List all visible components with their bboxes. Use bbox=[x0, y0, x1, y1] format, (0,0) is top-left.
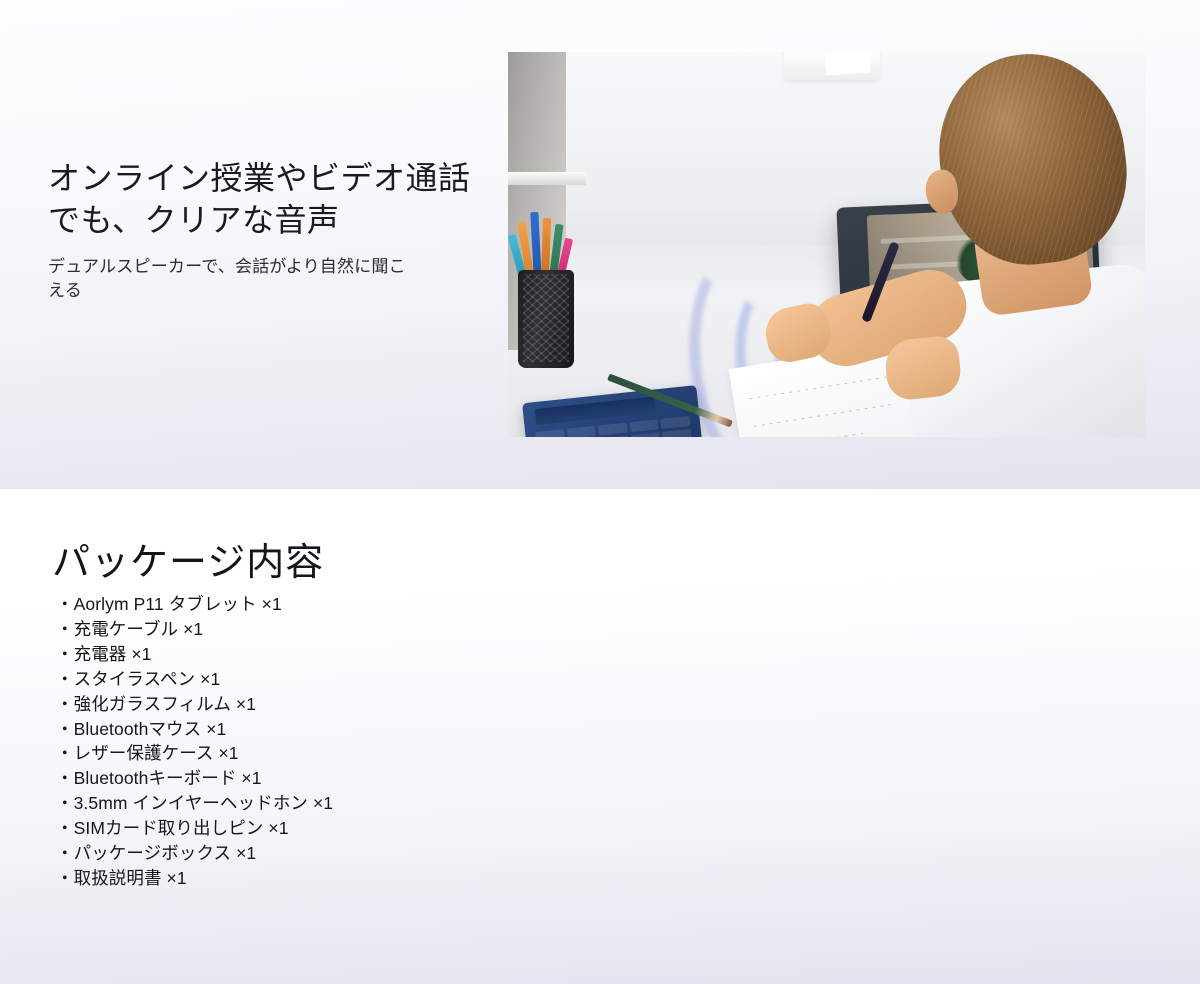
hero-title: オンライン授業やビデオ通話 でも、クリアな音声 bbox=[48, 158, 488, 241]
product-detail-page: オンライン授業やビデオ通話 でも、クリアな音声 デュアルスピーカーで、会話がより… bbox=[0, 0, 1200, 984]
pencil-cup bbox=[518, 270, 574, 368]
hero-photo bbox=[508, 52, 1145, 437]
hero-copy-block: オンライン授業やビデオ通話 でも、クリアな音声 デュアルスピーカーで、会話がより… bbox=[48, 158, 488, 303]
package-contents-section: パッケージ内容 ・Aorlym P11 タブレット ×1 ・充電ケーブル ×1 … bbox=[0, 489, 1200, 984]
hero-subtitle: デュアルスピーカーで、会話がより自然に聞こ える bbox=[48, 255, 488, 303]
hero-section: オンライン授業やビデオ通話 でも、クリアな音声 デュアルスピーカーで、会話がより… bbox=[0, 0, 1200, 489]
package-artwork: TABLET Connect & Learn more bbox=[0, 489, 1200, 984]
photo-paper-top bbox=[825, 52, 870, 75]
photo-shelf bbox=[508, 172, 586, 185]
